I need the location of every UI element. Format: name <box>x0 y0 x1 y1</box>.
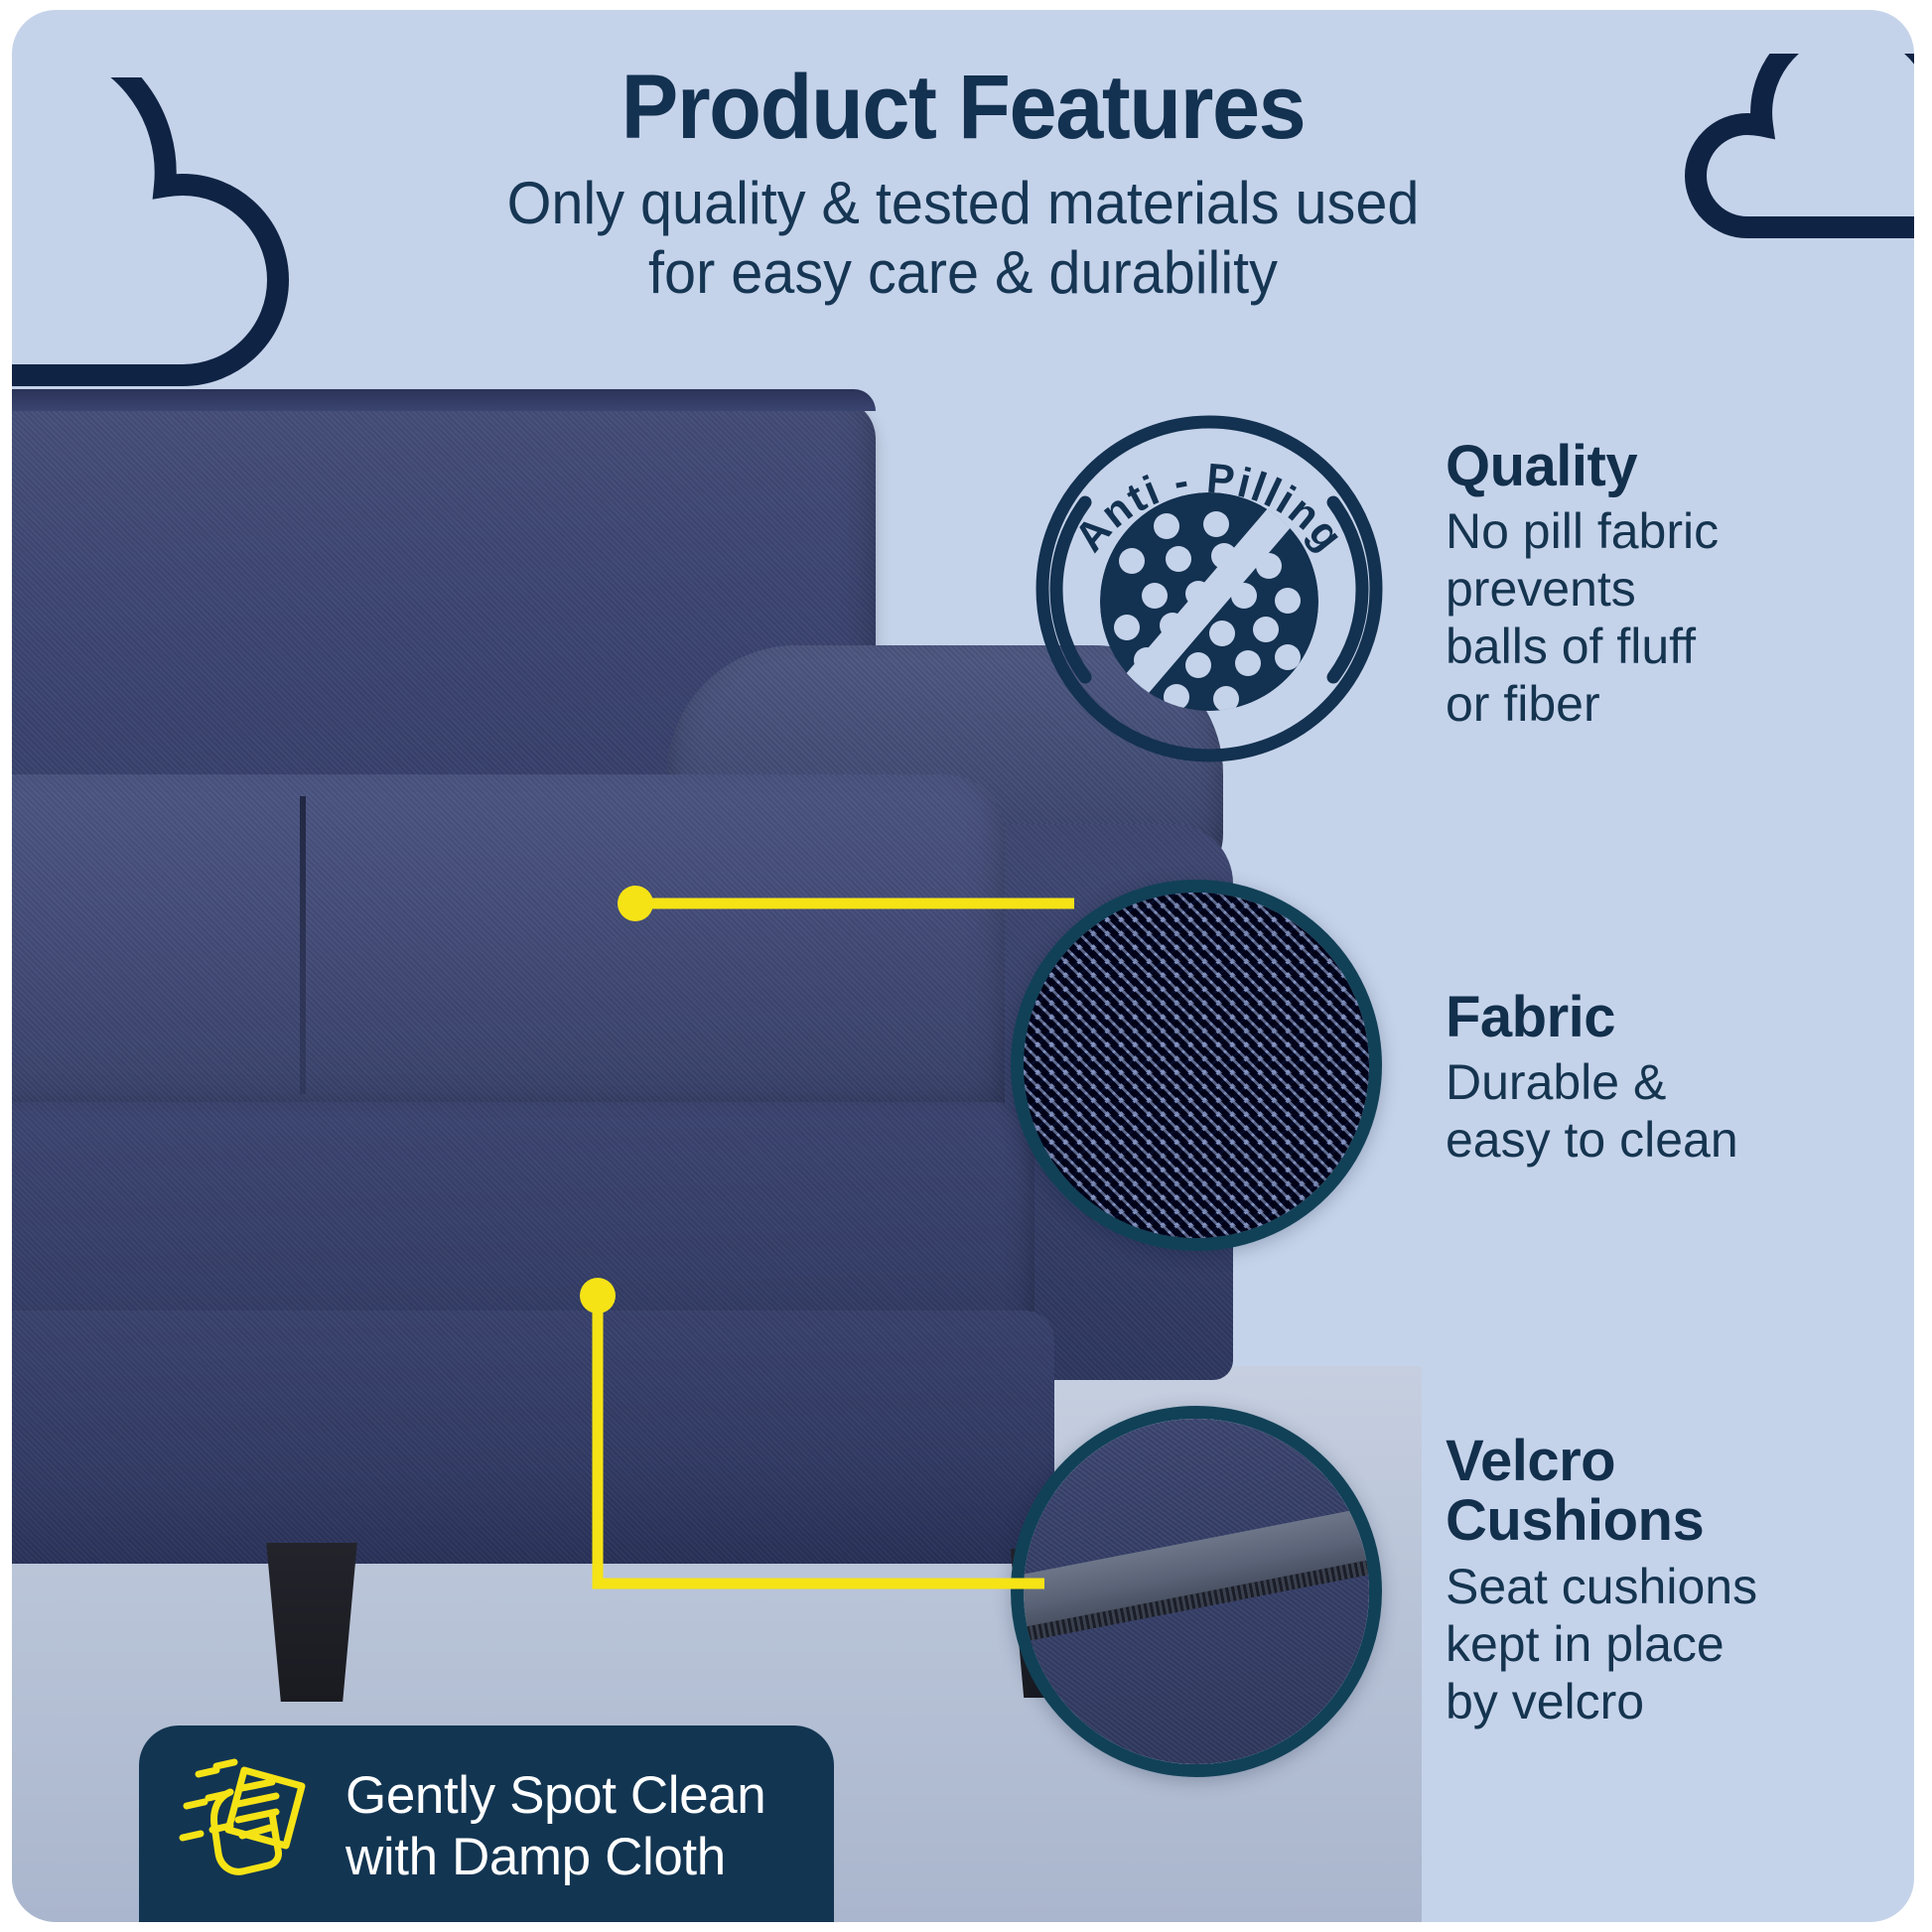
feature-velcro: Velcro Cushions Seat cushions kept in pl… <box>1446 1432 1902 1730</box>
anti-pilling-badge-icon: Anti - Pilling <box>1028 407 1391 770</box>
hand-wiping-cloth-icon <box>173 1754 322 1898</box>
fabric-connector-line <box>608 864 1164 948</box>
product-features-card: Product Features Only quality & tested m… <box>12 10 1914 1922</box>
sofa-seat-seam <box>300 796 306 1094</box>
page-subtitle-line2: for easy care & durability <box>50 238 1875 309</box>
feature-fabric-body-line1: Durable & <box>1446 1053 1902 1111</box>
feature-velcro-body-line2: kept in place <box>1446 1615 1902 1673</box>
feature-velcro-title-line2: Cushions <box>1446 1491 1902 1551</box>
feature-velcro-body-line3: by velcro <box>1446 1673 1902 1730</box>
feature-fabric: Fabric Durable & easy to clean <box>1446 988 1902 1169</box>
feature-fabric-body-line2: easy to clean <box>1446 1111 1902 1169</box>
banner-line1: Gently Spot Clean <box>345 1765 765 1827</box>
feature-fabric-title: Fabric <box>1446 988 1902 1047</box>
banner-line2: with Damp Cloth <box>345 1827 765 1888</box>
header: Product Features Only quality & tested m… <box>12 60 1914 309</box>
feature-quality-body-line3: balls of fluff <box>1446 618 1902 675</box>
velcro-connector-line <box>548 1256 1084 1658</box>
infographic-canvas: Product Features Only quality & tested m… <box>0 0 1932 1932</box>
feature-quality-title: Quality <box>1446 437 1902 496</box>
feature-velcro-title-line1: Velcro <box>1446 1432 1902 1491</box>
feature-quality-body-line4: or fiber <box>1446 675 1902 733</box>
feature-velcro-body-line1: Seat cushions <box>1446 1558 1902 1615</box>
feature-quality-body-line2: prevents <box>1446 560 1902 618</box>
sofa-seat-cushions <box>12 774 1005 1132</box>
feature-quality: Quality No pill fabric prevents balls of… <box>1446 437 1902 733</box>
page-subtitle-line1: Only quality & tested materials used <box>50 169 1875 239</box>
feature-quality-body-line1: No pill fabric <box>1446 502 1902 560</box>
care-instruction-banner: Gently Spot Clean with Damp Cloth <box>139 1725 834 1922</box>
page-title: Product Features <box>69 60 1857 157</box>
banner-text: Gently Spot Clean with Damp Cloth <box>345 1765 765 1888</box>
